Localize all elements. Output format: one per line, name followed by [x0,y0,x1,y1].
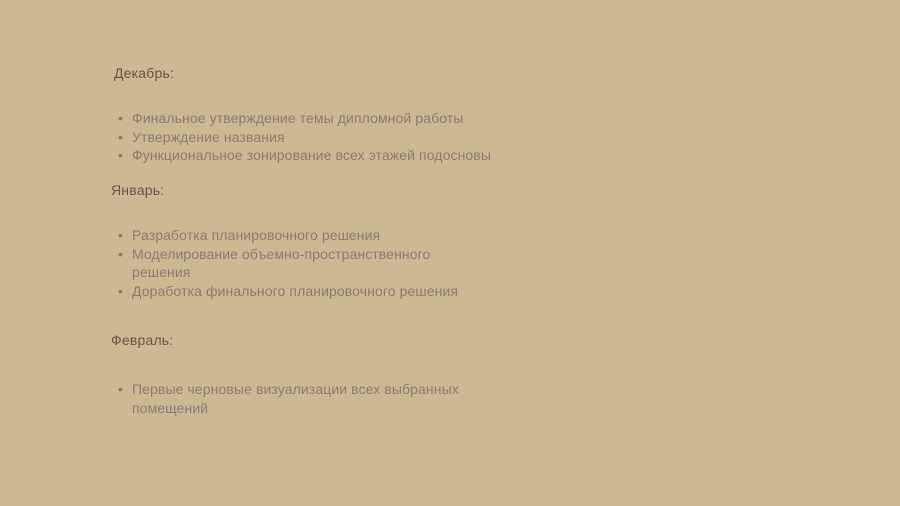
month-heading-february: Февраль: [111,331,560,349]
list-item-label: Утверждение названия [132,129,285,145]
bullet-dot-icon: • [118,146,123,165]
bullet-list-february: • Первые черновые визуализации всех выбр… [112,380,560,417]
list-item-label: Разработка планировочного решения [132,227,380,243]
list-item: • Разработка планировочного решения [112,226,560,245]
bullet-list-december: • Финальное утверждение темы дипломной р… [112,109,560,165]
list-item-label: Первые черновые визуализации всех выбран… [132,381,459,416]
section-february: Февраль: • Первые черновые визуализации … [0,331,560,417]
list-item-label: Финальное утверждение темы дипломной раб… [132,110,463,126]
list-item-label: Функциональное зонирование всех этажей п… [132,147,491,163]
section-january: Январь: • Разработка планировочного реше… [0,181,560,300]
list-item-label: Моделирование объемно-пространственного … [132,246,430,281]
slide-canvas: Декабрь: • Финальное утверждение темы ди… [0,0,900,506]
list-item-label: Доработка финального планировочного реше… [132,283,458,299]
list-item: • Доработка финального планировочного ре… [112,282,560,301]
list-item: • Моделирование объемно-пространственног… [112,245,492,282]
section-december: Декабрь: • Финальное утверждение темы ди… [0,64,560,165]
bullet-list-january: • Разработка планировочного решения • Мо… [112,226,560,300]
list-item: • Функциональное зонирование всех этажей… [112,146,560,165]
bullet-dot-icon: • [118,245,123,264]
month-heading-january: Январь: [111,181,560,199]
list-item: • Первые черновые визуализации всех выбр… [112,380,517,417]
list-item: • Утверждение названия [112,128,560,147]
bullet-dot-icon: • [118,226,123,245]
bullet-dot-icon: • [118,109,123,128]
bullet-dot-icon: • [118,128,123,147]
list-item: • Финальное утверждение темы дипломной р… [112,109,560,128]
bullet-dot-icon: • [118,380,123,399]
month-heading-december: Декабрь: [114,64,560,82]
bullet-dot-icon: • [118,282,123,301]
